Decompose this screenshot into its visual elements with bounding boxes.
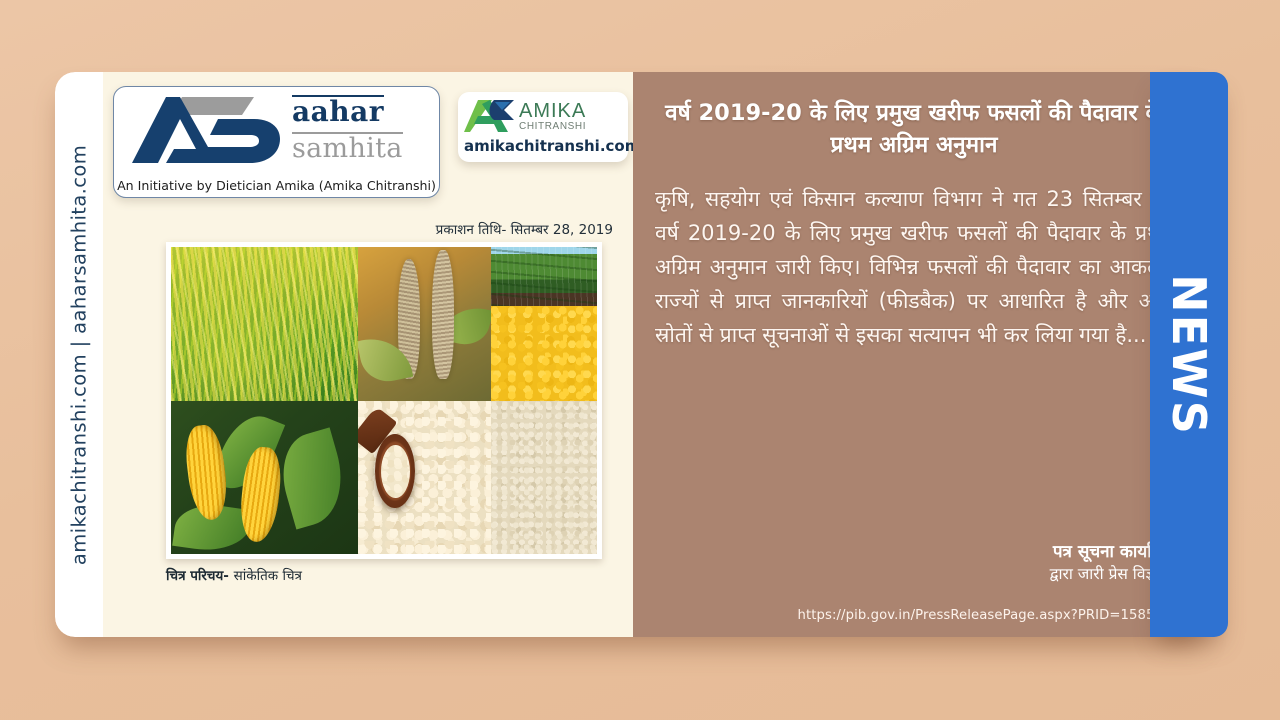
photo-frame	[166, 242, 602, 559]
amika-url: amikachitranshi.com	[464, 137, 622, 155]
article-headline: वर्ष 2019-20 के लिए प्रमुख खरीफ फसलों की…	[655, 98, 1173, 162]
poster-canvas: amikachitranshi.com | aaharsamhita.com a…	[0, 0, 1280, 720]
caption-label: चित्र परिचय-	[166, 568, 229, 584]
corn-husk-2	[272, 428, 354, 530]
news-ribbon: NEWS	[1150, 72, 1228, 637]
millet-leaf-shape	[358, 332, 413, 387]
amika-subtitle: CHITRANSHI	[519, 122, 586, 132]
left-media-column: aahar samhita An Initiative by Dietician…	[103, 72, 633, 637]
amika-name: AMIKA	[519, 101, 586, 121]
article-body: कृषि, सहयोग एवं किसान कल्याण विभाग ने गत…	[655, 182, 1173, 352]
image-caption: चित्र परिचय- सांकेतिक चित्र	[166, 566, 302, 584]
vertical-url-rail: amikachitranshi.com | aaharsamhita.com	[55, 72, 103, 637]
aahar-word: aahar	[292, 95, 384, 126]
news-ribbon-label: NEWS	[1162, 274, 1216, 436]
logo-row: aahar samhita An Initiative by Dietician…	[113, 86, 633, 172]
vertical-url-text: amikachitranshi.com | aaharsamhita.com	[68, 144, 91, 564]
amika-chitranshi-mark-icon	[464, 98, 516, 134]
aahar-samhita-wordmark: aahar samhita	[292, 95, 434, 169]
aahar-samhita-mark-icon	[122, 91, 297, 169]
collage-cell-paddy-field	[171, 247, 358, 401]
aahar-samhita-logo-box[interactable]: aahar samhita An Initiative by Dietician…	[113, 86, 440, 198]
collage-cell-corn-cobs	[171, 401, 358, 555]
collage-cell-pale-grains	[491, 401, 597, 555]
samhita-word: samhita	[292, 132, 403, 162]
collage-cell-sugarcane	[491, 247, 597, 306]
source-url-link[interactable]: https://pib.gov.in/PressReleasePage.aspx…	[798, 608, 1180, 623]
aahar-tagline: An Initiative by Dietician Amika (Amika …	[114, 178, 439, 193]
millet-leaf-shape-2	[440, 300, 491, 350]
article-panel: वर्ष 2019-20 के लिए प्रमुख खरीफ फसलों की…	[633, 72, 1205, 637]
collage-cell-maize-kernels	[491, 306, 597, 401]
news-card: amikachitranshi.com | aaharsamhita.com a…	[55, 72, 1205, 637]
wooden-spoon-bowl	[375, 434, 415, 508]
caption-value: सांकेतिक चित्र	[234, 568, 302, 584]
collage-cell-sorghum-spoon	[358, 401, 491, 555]
amika-chitranshi-logo-box[interactable]: AMIKA CHITRANSHI amikachitranshi.com	[458, 92, 628, 162]
crop-collage	[171, 247, 597, 554]
collage-cell-sugarcane-maize	[491, 247, 597, 401]
collage-cell-pearl-millet	[358, 247, 491, 401]
publication-date: प्रकाशन तिथि- सितम्बर 28, 2019	[436, 220, 613, 238]
